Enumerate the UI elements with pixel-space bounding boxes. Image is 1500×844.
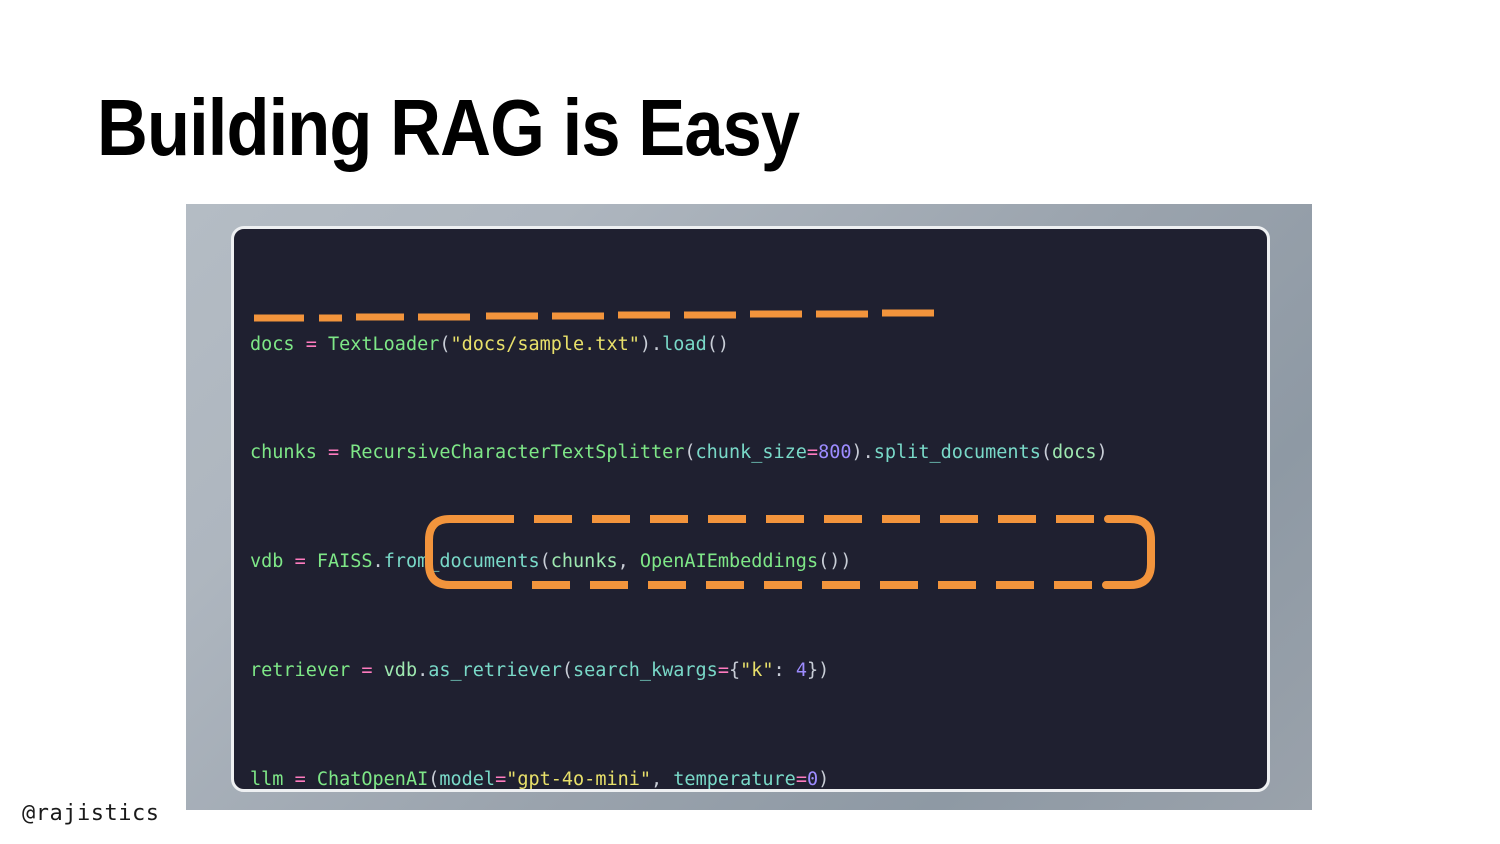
code-block: docs = TextLoader("docs/sample.txt").loa… <box>250 249 1267 792</box>
code-line: vdb = FAISS.from_documents(chunks, OpenA… <box>250 548 1267 575</box>
code-line: chunks = RecursiveCharacterTextSplitter(… <box>250 439 1267 466</box>
code-line: retriever = vdb.as_retriever(search_kwar… <box>250 657 1267 684</box>
code-line: docs = TextLoader("docs/sample.txt").loa… <box>250 331 1267 358</box>
footer-handle: @rajistics <box>22 801 159 826</box>
code-line: llm = ChatOpenAI(model="gpt-4o-mini", te… <box>250 766 1267 792</box>
code-card: docs = TextLoader("docs/sample.txt").loa… <box>231 226 1270 792</box>
code-panel: docs = TextLoader("docs/sample.txt").loa… <box>186 204 1312 810</box>
page-title: Building RAG is Easy <box>97 88 799 168</box>
